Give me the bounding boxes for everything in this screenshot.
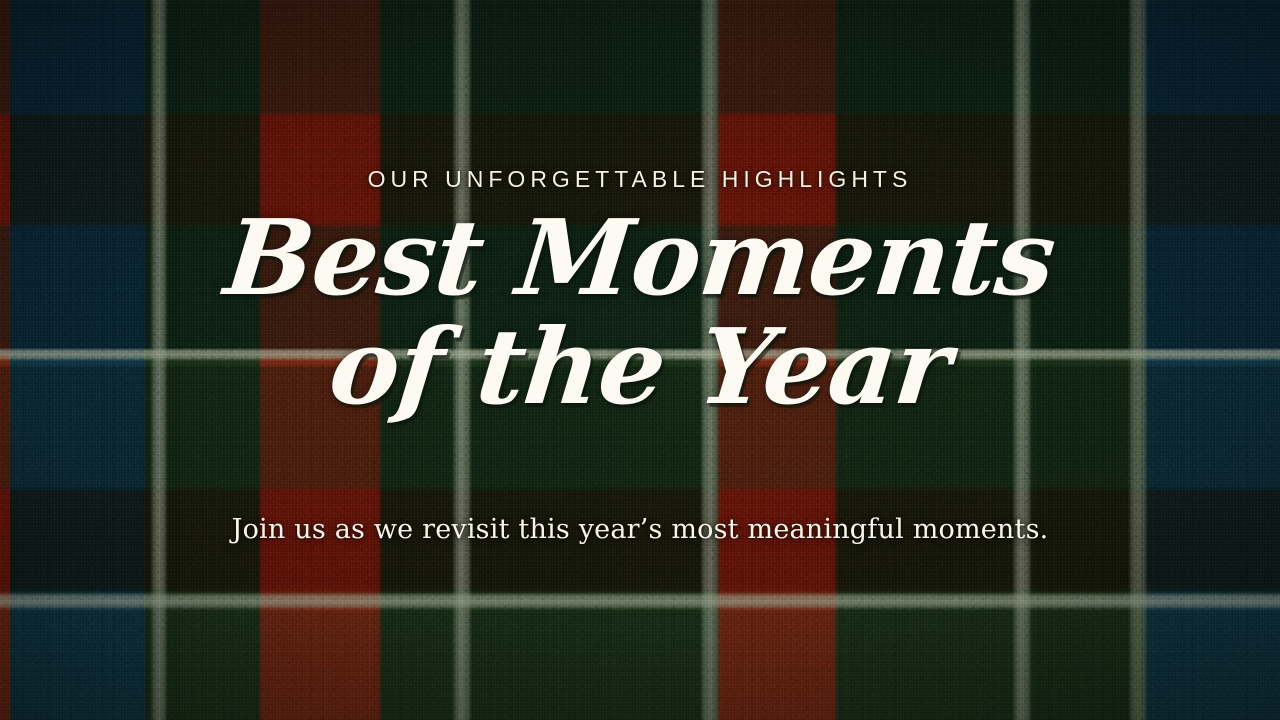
headline-line-1: Best Moments	[221, 207, 1060, 310]
headline-line-2: of the Year	[221, 316, 1060, 419]
presentation-slide: OUR UNFORGETTABLE HIGHLIGHTS Best Moment…	[0, 0, 1280, 720]
eyebrow-kicker-text: OUR UNFORGETTABLE HIGHLIGHTS	[368, 166, 913, 193]
page-title: Best Moments of the Year	[226, 207, 1054, 419]
slide-content: OUR UNFORGETTABLE HIGHLIGHTS Best Moment…	[0, 0, 1280, 720]
subtitle-text: Join us as we revisit this year’s most m…	[232, 514, 1049, 545]
